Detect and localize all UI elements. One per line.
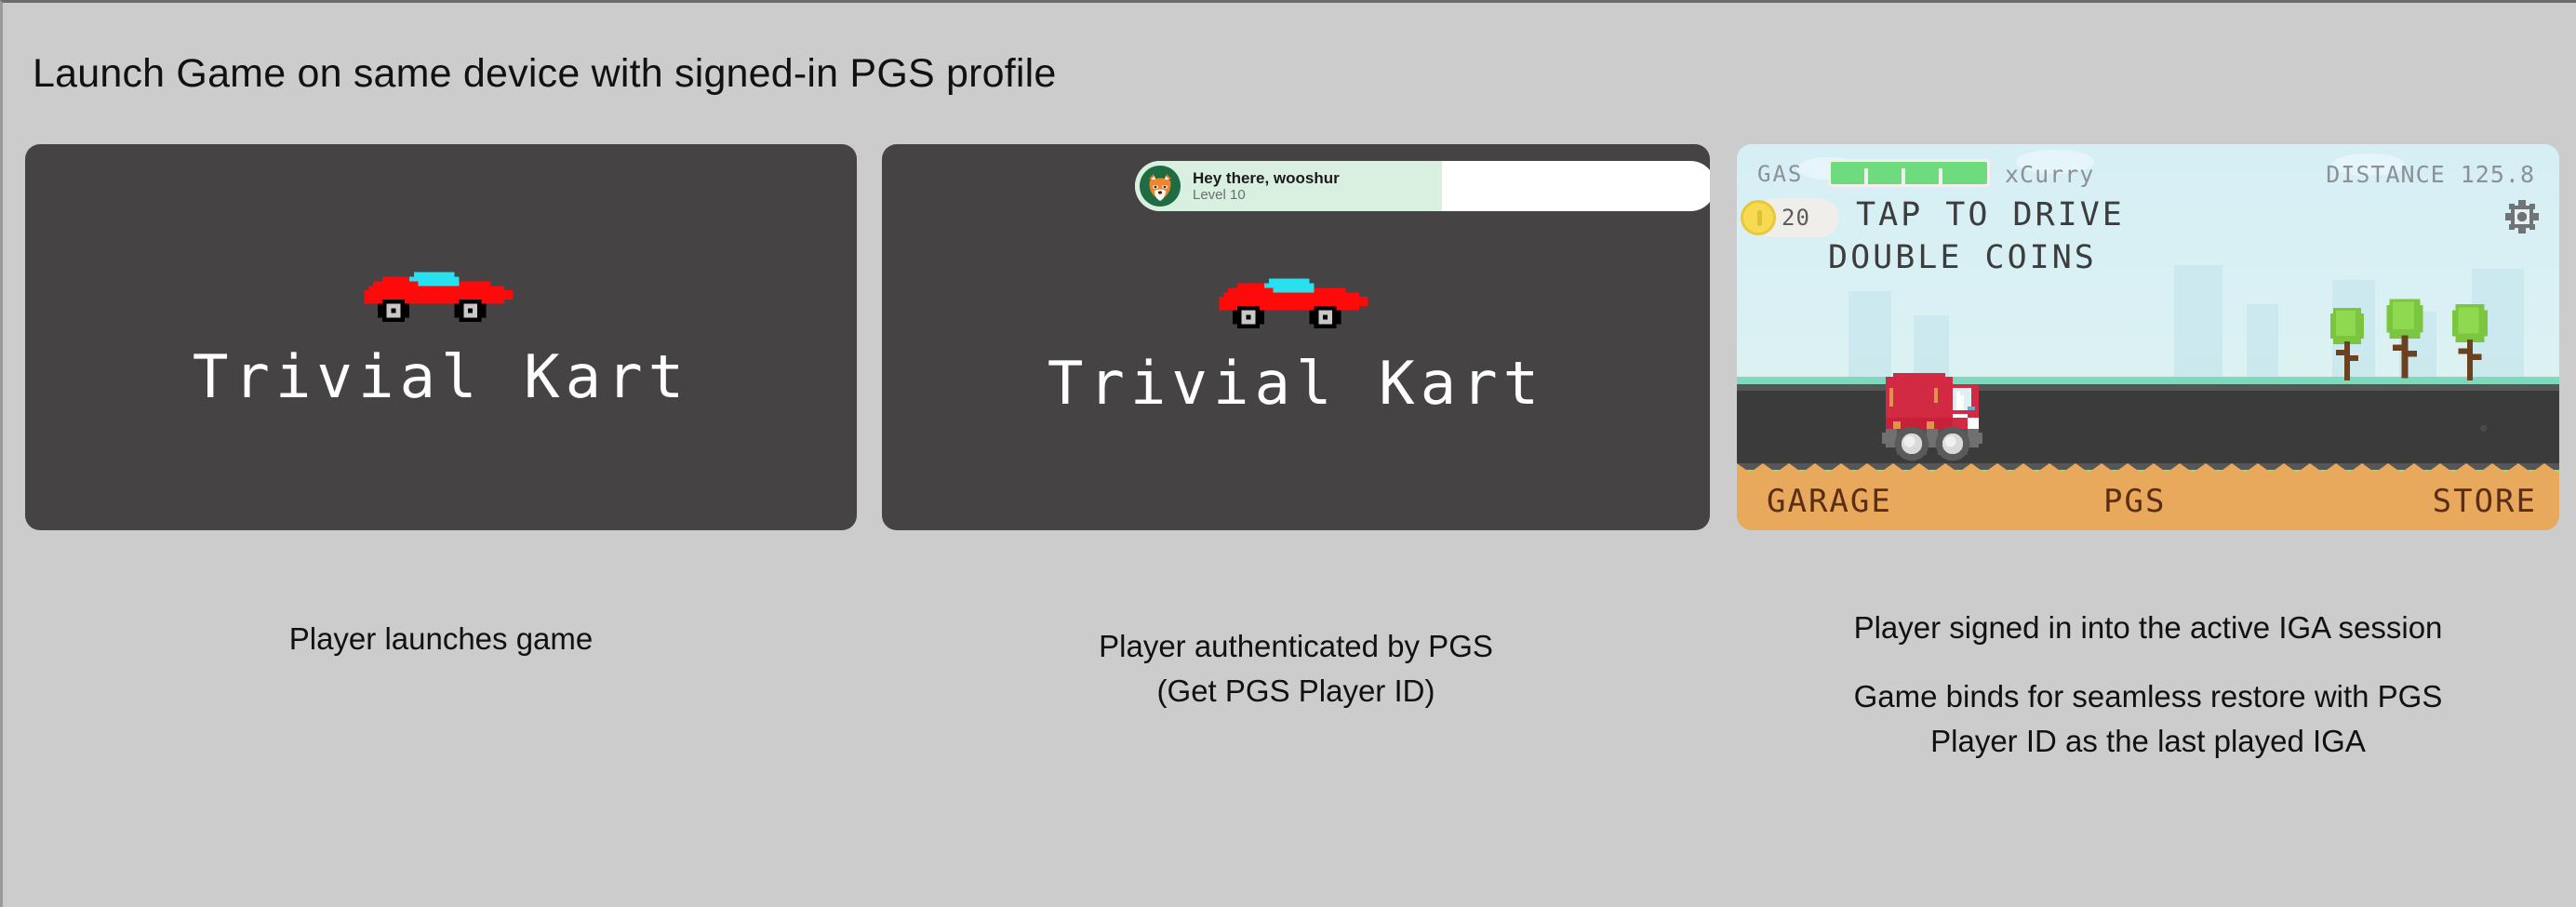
nav-store[interactable]: STORE [2433,483,2537,520]
page-title: Launch Game on same device with signed-i… [33,51,1057,97]
coin-badge: 20 [1754,198,1839,237]
game-title: Trivial Kart [193,343,689,412]
coin-count: 20 [1782,205,1825,231]
caption-line: Player authenticated by PGS [882,624,1710,669]
gas-meter-fill [1831,162,1987,184]
game-splash-screen: Trivial Kart [25,144,857,530]
banner-text: Hey there, wooshur Level 10 [1193,169,1340,204]
caption-line: Game binds for seamless restore with PGS [1737,674,2559,719]
pgs-level: Level 10 [1193,187,1340,203]
nav-garage[interactable]: GARAGE [1767,483,1892,520]
caption-panel-1: Player launches game [25,617,857,661]
double-coins-message: DOUBLE COINS [1828,239,2125,276]
gear-icon[interactable] [2503,198,2541,235]
hud-messages: TAP TO DRIVE DOUBLE COINS [1856,196,2125,276]
caption-line: (Get PGS Player ID) [882,669,1710,714]
panel-pgs-authentication: Trivial Kart [882,144,1710,530]
pixel-tree-icon [2449,304,2490,385]
caption-panel-2: Player authenticated by PGS (Get PGS Pla… [882,624,1710,714]
game-scene: GAS xCurry DISTANCE 125.8 20 TAP TO DRIV… [1737,144,2559,530]
sand-zigzag-edge [1737,458,2559,473]
pixel-tree-icon [2383,299,2426,383]
caption-line: Player launches game [25,617,857,661]
fox-avatar [1140,166,1181,207]
horizon-grass [1737,377,2559,384]
pixel-tree-icon [2328,308,2367,385]
caption-line: Player ID as the last played IGA [1737,719,2559,764]
road-marker [2480,425,2487,432]
player-name: xCurry [2005,161,2094,188]
tap-to-drive-message[interactable]: TAP TO DRIVE [1856,196,2125,233]
distance-readout: DISTANCE 125.8 [2326,161,2535,188]
nav-pgs[interactable]: PGS [2103,483,2166,520]
gold-coin-icon [1741,200,1776,235]
panel-gameplay-session: GAS xCurry DISTANCE 125.8 20 TAP TO DRIV… [1737,144,2559,530]
red-car-icon [1208,270,1384,333]
game-title: Trivial Kart [1048,350,1544,419]
gas-label: GAS [1757,161,1803,187]
pgs-welcome-banner[interactable]: Hey there, wooshur Level 10 [1135,161,1710,211]
pgs-greeting: Hey there, wooshur [1193,169,1340,188]
caption-line: Player signed in into the active IGA ses… [1737,606,2559,650]
panel-game-launch: Trivial Kart [25,144,857,530]
caption-panel-3: Player signed in into the active IGA ses… [1737,606,2559,764]
diagram-canvas: Launch Game on same device with signed-i… [0,0,2576,907]
gas-meter [1828,159,1990,187]
red-car-icon [353,263,529,327]
game-bottom-nav: GARAGE PGS STORE [1737,473,2559,530]
